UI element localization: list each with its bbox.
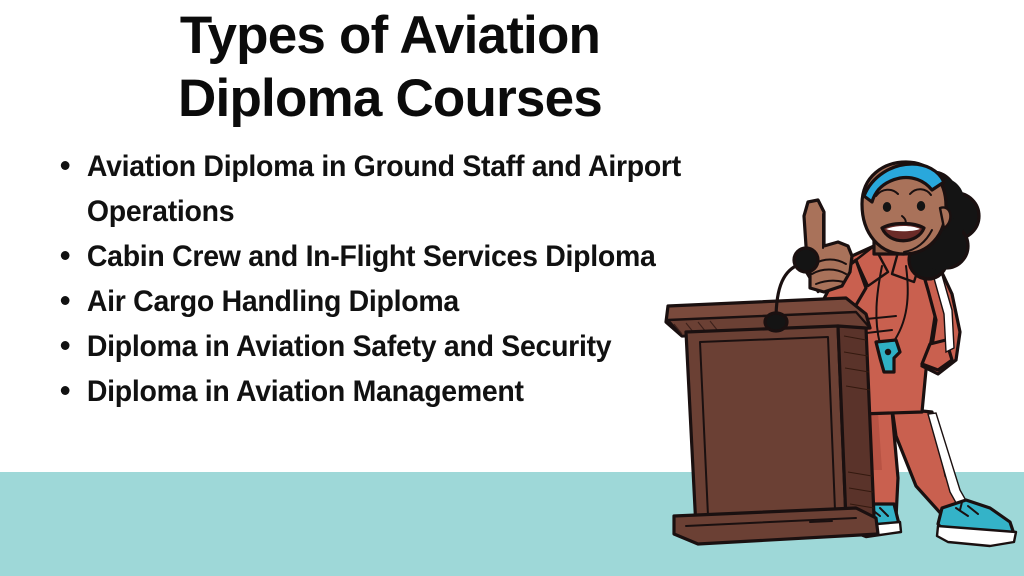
list-item-label: Aviation Diploma in Ground Staff and Air… (87, 150, 681, 228)
bullet-dot-icon (61, 251, 70, 260)
course-type-list: Aviation Diploma in Ground Staff and Air… (56, 144, 716, 414)
list-item-label: Air Cargo Handling Diploma (87, 285, 459, 318)
list-item-label: Diploma in Aviation Management (87, 375, 524, 408)
slide-canvas: Types of Aviation Diploma Courses Aviati… (0, 0, 1024, 576)
list-item: Diploma in Aviation Safety and Security (56, 324, 693, 369)
title-line-1: Types of Aviation (60, 4, 720, 67)
bullet-dot-icon (61, 296, 70, 305)
list-item: Cabin Crew and In-Flight Services Diplom… (56, 234, 693, 279)
page-title: Types of Aviation Diploma Courses (60, 4, 720, 130)
wooden-podium (666, 298, 878, 544)
list-item: Aviation Diploma in Ground Staff and Air… (56, 144, 693, 234)
bullet-dot-icon (61, 386, 70, 395)
bullet-dot-icon (61, 341, 70, 350)
bullet-dot-icon (61, 161, 70, 170)
pointing-hand (804, 200, 852, 292)
list-item-label: Cabin Crew and In-Flight Services Diplom… (87, 240, 656, 273)
speaker-at-podium-illustration: .ol { stroke:#1a1010; stroke-width:3.2; … (660, 160, 1024, 576)
title-line-2: Diploma Courses (60, 67, 720, 130)
list-item: Diploma in Aviation Management (56, 369, 693, 414)
list-item-label: Diploma in Aviation Safety and Security (87, 330, 611, 363)
list-item: Air Cargo Handling Diploma (56, 279, 693, 324)
